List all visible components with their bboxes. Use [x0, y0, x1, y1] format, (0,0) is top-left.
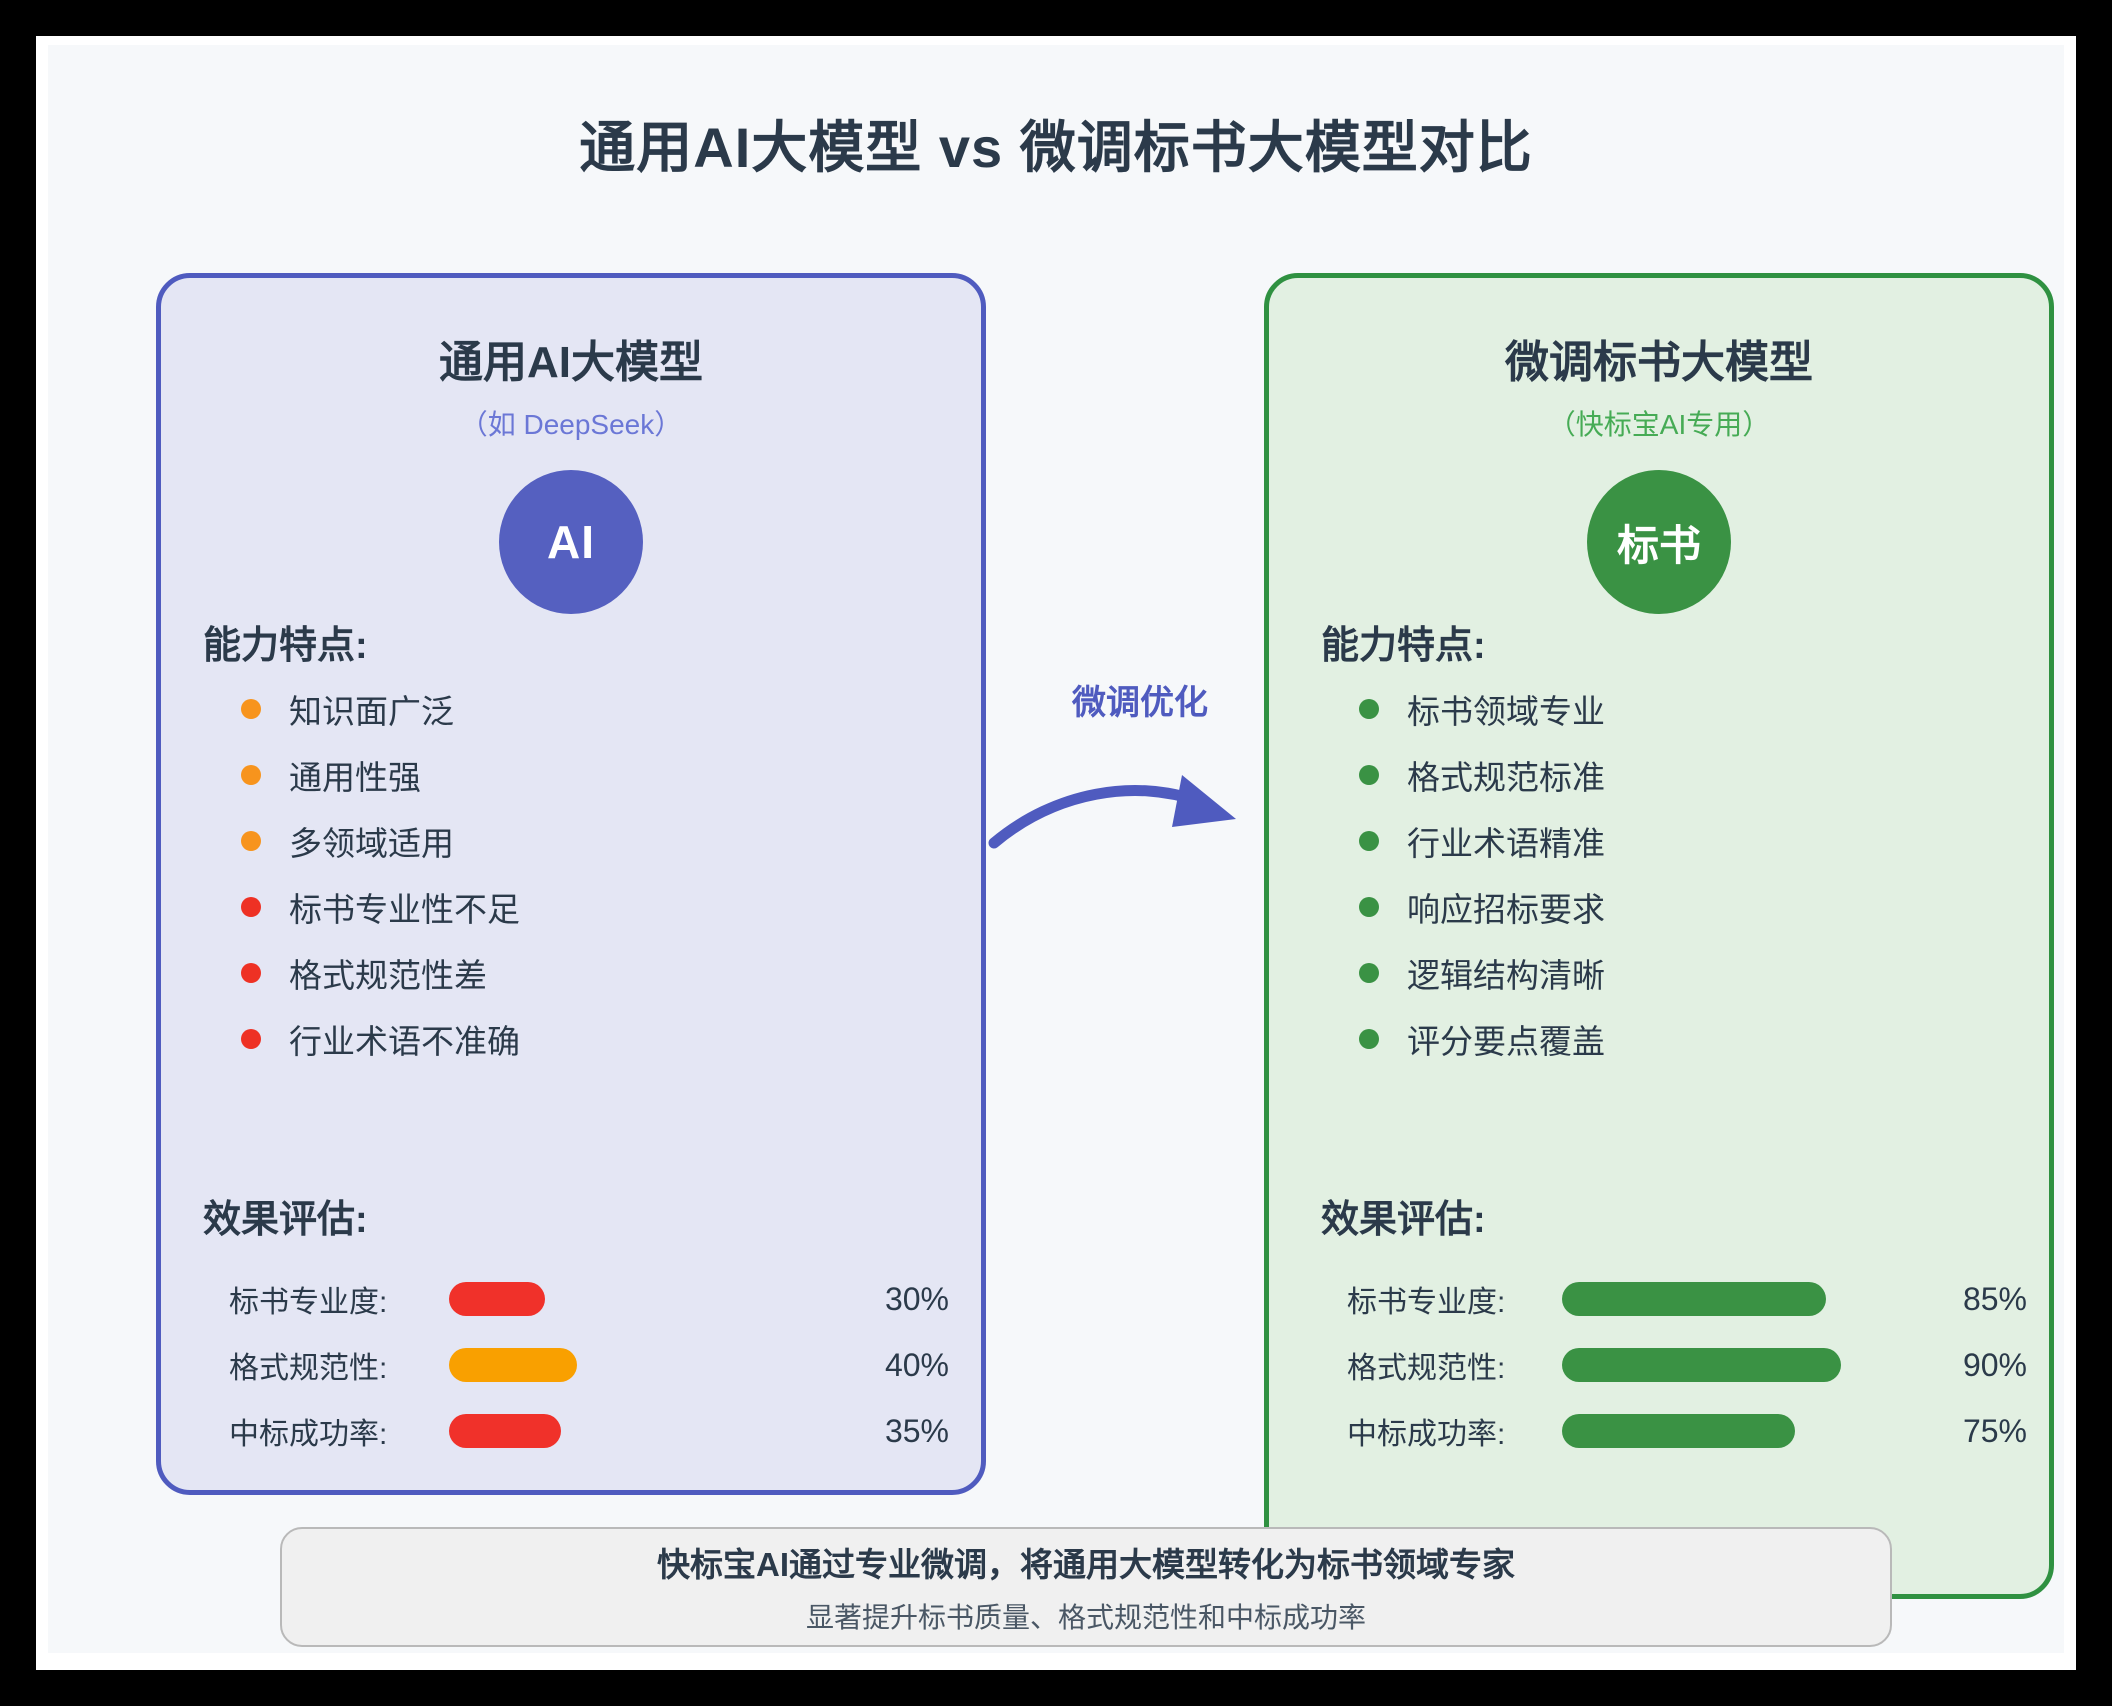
metric-value: 40%: [769, 1347, 949, 1384]
bullet-dot-icon: [1359, 963, 1379, 983]
list-item: 响应招标要求: [1359, 882, 1605, 932]
metric-row: 标书专业度: 85%: [1347, 1266, 2027, 1332]
bid-circle-badge: 标书: [1587, 470, 1731, 614]
metrics-heading-right: 效果评估:: [1321, 1188, 1486, 1243]
list-item: 标书专业性不足: [241, 882, 520, 932]
feature-label: 格式规范标准: [1407, 751, 1605, 799]
transform-label: 微调优化: [1030, 675, 1250, 724]
metric-label: 中标成功率:: [229, 1409, 449, 1453]
bullet-dot-icon: [1359, 897, 1379, 917]
card-title-left: 通用AI大模型: [161, 326, 981, 390]
finetuned-bid-model-card: 微调标书大模型 （快标宝AI专用） 标书 能力特点: 标书领域专业 格式规范标准…: [1264, 273, 2054, 1599]
feature-label: 多领域适用: [289, 817, 454, 865]
metric-bar-track: [1562, 1348, 1872, 1382]
bullet-dot-icon: [241, 897, 261, 917]
bullet-dot-icon: [241, 765, 261, 785]
bullet-dot-icon: [241, 1029, 261, 1049]
feature-list-right: 标书领域专业 格式规范标准 行业术语精准 响应招标要求 逻辑结构清晰: [1359, 684, 1605, 1080]
metric-value: 75%: [1872, 1413, 2027, 1450]
curved-right-arrow-icon: [986, 735, 1276, 865]
list-item: 评分要点覆盖: [1359, 1014, 1605, 1064]
features-heading-left: 能力特点:: [203, 614, 368, 669]
feature-label: 响应招标要求: [1407, 883, 1605, 931]
feature-label: 标书专业性不足: [289, 883, 520, 931]
list-item: 行业术语不准确: [241, 1014, 520, 1064]
metric-bar-fill: [1562, 1348, 1841, 1382]
banner-main-text: 快标宝AI通过专业微调，将通用大模型转化为标书领域专家: [657, 1538, 1515, 1586]
metric-list-right: 标书专业度: 85% 格式规范性: 90% 中标成功率:: [1347, 1266, 2027, 1464]
feature-label: 知识面广泛: [289, 685, 454, 733]
metric-bar-track: [1562, 1414, 1872, 1448]
page-title: 通用AI大模型 vs 微调标书大模型对比: [48, 103, 2064, 184]
metric-bar-track: [1562, 1282, 1872, 1316]
feature-label: 通用性强: [289, 751, 421, 799]
metric-bar-fill: [449, 1348, 577, 1382]
metric-label: 标书专业度:: [1347, 1277, 1562, 1321]
card-title-right: 微调标书大模型: [1269, 326, 2049, 390]
list-item: 逻辑结构清晰: [1359, 948, 1605, 998]
bullet-dot-icon: [1359, 831, 1379, 851]
metric-bar-track: [449, 1414, 769, 1448]
metric-bar-fill: [449, 1414, 561, 1448]
bid-badge-label: 标书: [1617, 512, 1701, 573]
feature-label: 行业术语精准: [1407, 817, 1605, 865]
list-item: 格式规范标准: [1359, 750, 1605, 800]
metric-row: 格式规范性: 40%: [229, 1332, 949, 1398]
bullet-dot-icon: [241, 831, 261, 851]
metric-row: 格式规范性: 90%: [1347, 1332, 2027, 1398]
list-item: 格式规范性差: [241, 948, 520, 998]
metric-label: 格式规范性:: [229, 1343, 449, 1387]
metric-list-left: 标书专业度: 30% 格式规范性: 40% 中标成功率:: [229, 1266, 949, 1464]
metrics-heading-left: 效果评估:: [203, 1188, 368, 1243]
bullet-dot-icon: [241, 963, 261, 983]
ai-circle-badge: AI: [499, 470, 643, 614]
metric-bar-track: [449, 1282, 769, 1316]
metric-bar-fill: [449, 1282, 545, 1316]
bullet-dot-icon: [241, 699, 261, 719]
metric-value: 85%: [1872, 1281, 2027, 1318]
list-item: 知识面广泛: [241, 684, 520, 734]
infographic-canvas: 通用AI大模型 vs 微调标书大模型对比 通用AI大模型 （如 DeepSeek…: [48, 45, 2064, 1653]
metric-bar-track: [449, 1348, 769, 1382]
list-item: 多领域适用: [241, 816, 520, 866]
metric-row: 标书专业度: 30%: [229, 1266, 949, 1332]
bullet-dot-icon: [1359, 765, 1379, 785]
metric-value: 30%: [769, 1281, 949, 1318]
metric-label: 中标成功率:: [1347, 1409, 1562, 1453]
list-item: 行业术语精准: [1359, 816, 1605, 866]
bullet-dot-icon: [1359, 699, 1379, 719]
ai-badge-label: AI: [547, 515, 595, 569]
list-item: 标书领域专业: [1359, 684, 1605, 734]
metric-label: 格式规范性:: [1347, 1343, 1562, 1387]
features-heading-right: 能力特点:: [1321, 614, 1486, 669]
metric-value: 35%: [769, 1413, 949, 1450]
summary-banner: 快标宝AI通过专业微调，将通用大模型转化为标书领域专家 显著提升标书质量、格式规…: [280, 1527, 1892, 1647]
feature-label: 评分要点覆盖: [1407, 1015, 1605, 1063]
feature-list-left: 知识面广泛 通用性强 多领域适用 标书专业性不足 格式规范性差: [241, 684, 520, 1080]
card-subtitle-left: （如 DeepSeek）: [161, 403, 981, 443]
feature-label: 标书领域专业: [1407, 685, 1605, 733]
feature-label: 行业术语不准确: [289, 1015, 520, 1063]
feature-label: 逻辑结构清晰: [1407, 949, 1605, 997]
feature-label: 格式规范性差: [289, 949, 487, 997]
card-subtitle-right: （快标宝AI专用）: [1269, 403, 2049, 443]
outer-frame: 通用AI大模型 vs 微调标书大模型对比 通用AI大模型 （如 DeepSeek…: [36, 36, 2076, 1670]
metric-row: 中标成功率: 35%: [229, 1398, 949, 1464]
general-ai-card: 通用AI大模型 （如 DeepSeek） AI 能力特点: 知识面广泛 通用性强…: [156, 273, 986, 1495]
metric-row: 中标成功率: 75%: [1347, 1398, 2027, 1464]
bullet-dot-icon: [1359, 1029, 1379, 1049]
metric-bar-fill: [1562, 1282, 1826, 1316]
metric-label: 标书专业度:: [229, 1277, 449, 1321]
banner-sub-text: 显著提升标书质量、格式规范性和中标成功率: [806, 1596, 1366, 1636]
list-item: 通用性强: [241, 750, 520, 800]
metric-bar-fill: [1562, 1414, 1795, 1448]
metric-value: 90%: [1872, 1347, 2027, 1384]
